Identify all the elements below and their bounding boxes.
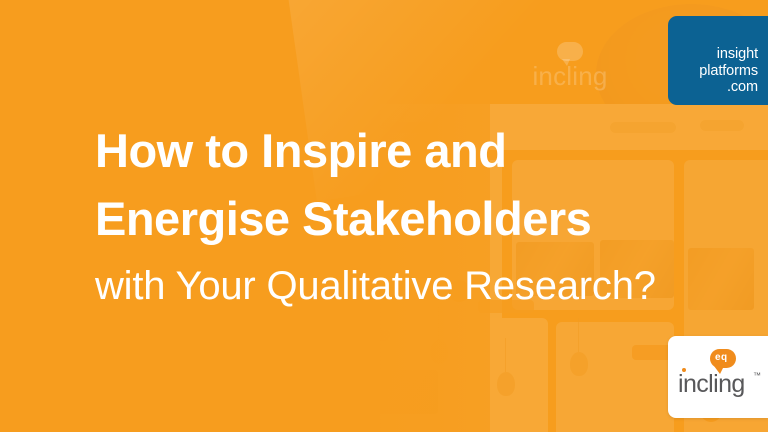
incling-trademark-symbol: ™ [753, 372, 761, 380]
incling-wordmark: incling [678, 370, 745, 398]
page-title: How to Inspire and Energise Stakeholders… [95, 117, 755, 319]
promo-banner: incling How to Inspire and Energise Stak… [0, 0, 768, 432]
insight-platforms-logo[interactable]: insight platforms .com [668, 16, 768, 105]
title-line-1: How to Inspire and [95, 117, 755, 185]
insight-platforms-line-1: insight [668, 46, 758, 63]
speech-bubble-icon: eq [710, 349, 736, 368]
bubble-eq-label: eq [715, 352, 728, 363]
insight-platforms-line-2: platforms [668, 63, 758, 80]
title-line-3: with Your Qualitative Research? [95, 253, 755, 319]
incling-logo[interactable]: eq incling ™ [668, 336, 768, 418]
insight-platforms-line-3: .com [668, 79, 758, 96]
title-line-2: Energise Stakeholders [95, 185, 755, 253]
